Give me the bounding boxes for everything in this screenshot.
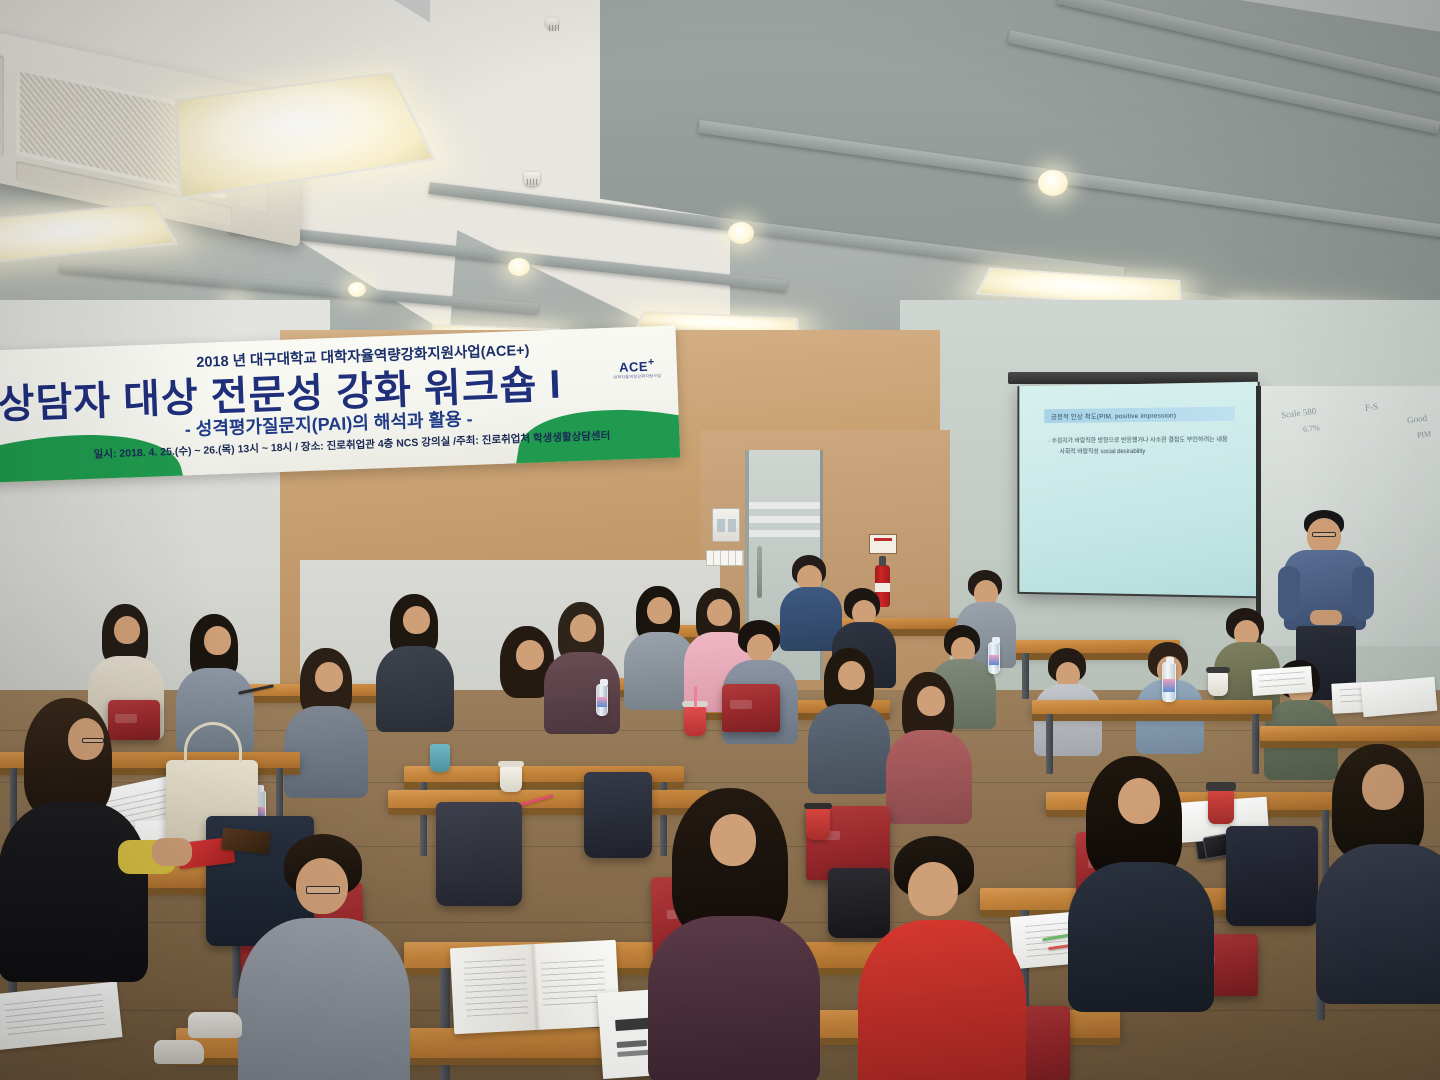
door-stripe — [749, 516, 820, 523]
open-workbook — [450, 940, 620, 1035]
attendee-head — [747, 634, 773, 662]
attendee-head — [838, 661, 865, 690]
attendee-body — [808, 704, 890, 794]
attendee-body — [0, 802, 148, 982]
whiteboard-note: Scale 580 — [1281, 406, 1317, 420]
whiteboard-note: F-S — [1364, 401, 1378, 413]
ceiling-downlight — [1038, 170, 1068, 196]
desk-leg — [1022, 653, 1029, 699]
attendee-head — [315, 662, 343, 692]
handbag — [828, 868, 890, 938]
attendee-head — [204, 626, 231, 655]
document-page — [1361, 677, 1438, 717]
notebook — [1251, 666, 1313, 696]
fire-extinguisher-sign — [869, 534, 897, 554]
shoe — [154, 1040, 204, 1064]
lecture-room-photo: 긍정적 인상 척도(PIM, positive impression) · 수검… — [0, 0, 1440, 1080]
presenter-arm — [1352, 566, 1374, 620]
ace-logo-plus: + — [648, 356, 655, 368]
door-handle[interactable] — [757, 546, 762, 598]
ceiling — [0, 0, 1440, 350]
ceiling-downlight — [728, 222, 754, 244]
attendee-body — [1068, 862, 1214, 1012]
water-bottle — [596, 684, 608, 716]
slide-body: · 수검자가 바람직한 방향으로 반응했거나 사소한 결점도 부인하려는 내용 … — [1048, 435, 1235, 459]
ace-logo: ACE+ 대학자율역량강화지원사업 — [613, 356, 662, 381]
chair[interactable] — [722, 684, 780, 732]
attendee-body — [886, 730, 972, 824]
attendee-head — [908, 862, 958, 916]
attendee-head — [570, 614, 596, 642]
attendee-hand — [152, 838, 192, 866]
water-bottle — [988, 642, 1000, 674]
shoe — [188, 1012, 242, 1038]
drink-cup — [430, 744, 450, 772]
projection-screen: 긍정적 인상 척도(PIM, positive impression) · 수검… — [1017, 382, 1259, 599]
attendee-body — [648, 916, 820, 1080]
presenter-hand — [1310, 610, 1342, 625]
water-bottle — [1162, 662, 1176, 702]
desk — [1260, 726, 1440, 741]
attendee-body — [1316, 844, 1440, 1004]
bottle-label — [989, 655, 999, 665]
desk — [1032, 700, 1272, 714]
smoke-detector-icon — [546, 18, 558, 29]
ceiling-downlight — [508, 258, 530, 276]
bottle-label — [597, 697, 607, 707]
drink-cup — [684, 706, 706, 736]
attendee-head — [1118, 778, 1160, 824]
drink-cup — [806, 808, 830, 840]
attendee-body — [376, 646, 454, 732]
attendee-head — [707, 599, 732, 626]
attendee-head — [516, 640, 544, 670]
slide-bullet: 사회적 바람직성 social desirability — [1048, 447, 1235, 460]
attendee-head — [1362, 764, 1404, 810]
attendee-body — [544, 652, 620, 734]
attendee-head — [403, 606, 430, 634]
attendee-hair — [24, 698, 112, 818]
straw — [694, 686, 697, 708]
ac-vane — [0, 51, 4, 156]
wall-control-panel[interactable] — [712, 508, 740, 542]
attendee-head — [710, 814, 756, 866]
attendee-body — [858, 920, 1026, 1080]
smoke-detector-icon — [524, 172, 540, 186]
attendee-head — [917, 686, 945, 716]
cup-lid — [498, 761, 524, 767]
cup-lid — [1206, 667, 1230, 673]
drink-cup — [1208, 790, 1234, 824]
coffee-cup — [1208, 672, 1228, 696]
slide-bullet: · 수검자가 바람직한 방향으로 반응했거나 사소한 결점도 부인하려는 내용 — [1048, 435, 1235, 448]
presenter-arm — [1278, 566, 1300, 620]
ceiling-downlight — [348, 282, 366, 297]
chair[interactable] — [108, 700, 160, 740]
door-stripe — [749, 502, 820, 509]
slide-title: 긍정적 인상 척도(PIM, positive impression) — [1044, 407, 1235, 424]
attendee-body — [238, 918, 410, 1080]
cup-lid — [1206, 782, 1236, 791]
door-stripe — [749, 530, 820, 537]
whiteboard-note: PIM — [1417, 429, 1432, 440]
ace-logo-subtext: 대학자율역량강화지원사업 — [613, 373, 661, 381]
attendee-head — [647, 597, 672, 624]
desk-leg — [1046, 714, 1053, 774]
cup-lid — [804, 803, 832, 809]
backpack — [436, 802, 522, 906]
attendee-glasses-icon — [306, 886, 340, 894]
pai-bar — [617, 1040, 647, 1048]
whiteboard-note: 6.7% — [1303, 423, 1321, 434]
ceiling-panel-light — [0, 202, 178, 266]
attendee-head — [114, 616, 140, 644]
drink-cup — [500, 766, 522, 792]
event-banner: 2018 년 대구대학교 대학자율역량강화지원사업(ACE+) 상담자 대상 전… — [0, 325, 680, 482]
ace-logo-text: ACE — [619, 359, 648, 375]
bottle-label — [1163, 679, 1175, 692]
attendee-glasses-icon — [82, 738, 104, 743]
backpack — [1226, 826, 1318, 926]
desk-leg — [1252, 714, 1259, 774]
whiteboard-note: Good — [1406, 413, 1427, 425]
presenter-glasses-icon — [1312, 532, 1336, 537]
backpack — [584, 772, 652, 858]
light-switch-bank[interactable] — [706, 550, 744, 566]
